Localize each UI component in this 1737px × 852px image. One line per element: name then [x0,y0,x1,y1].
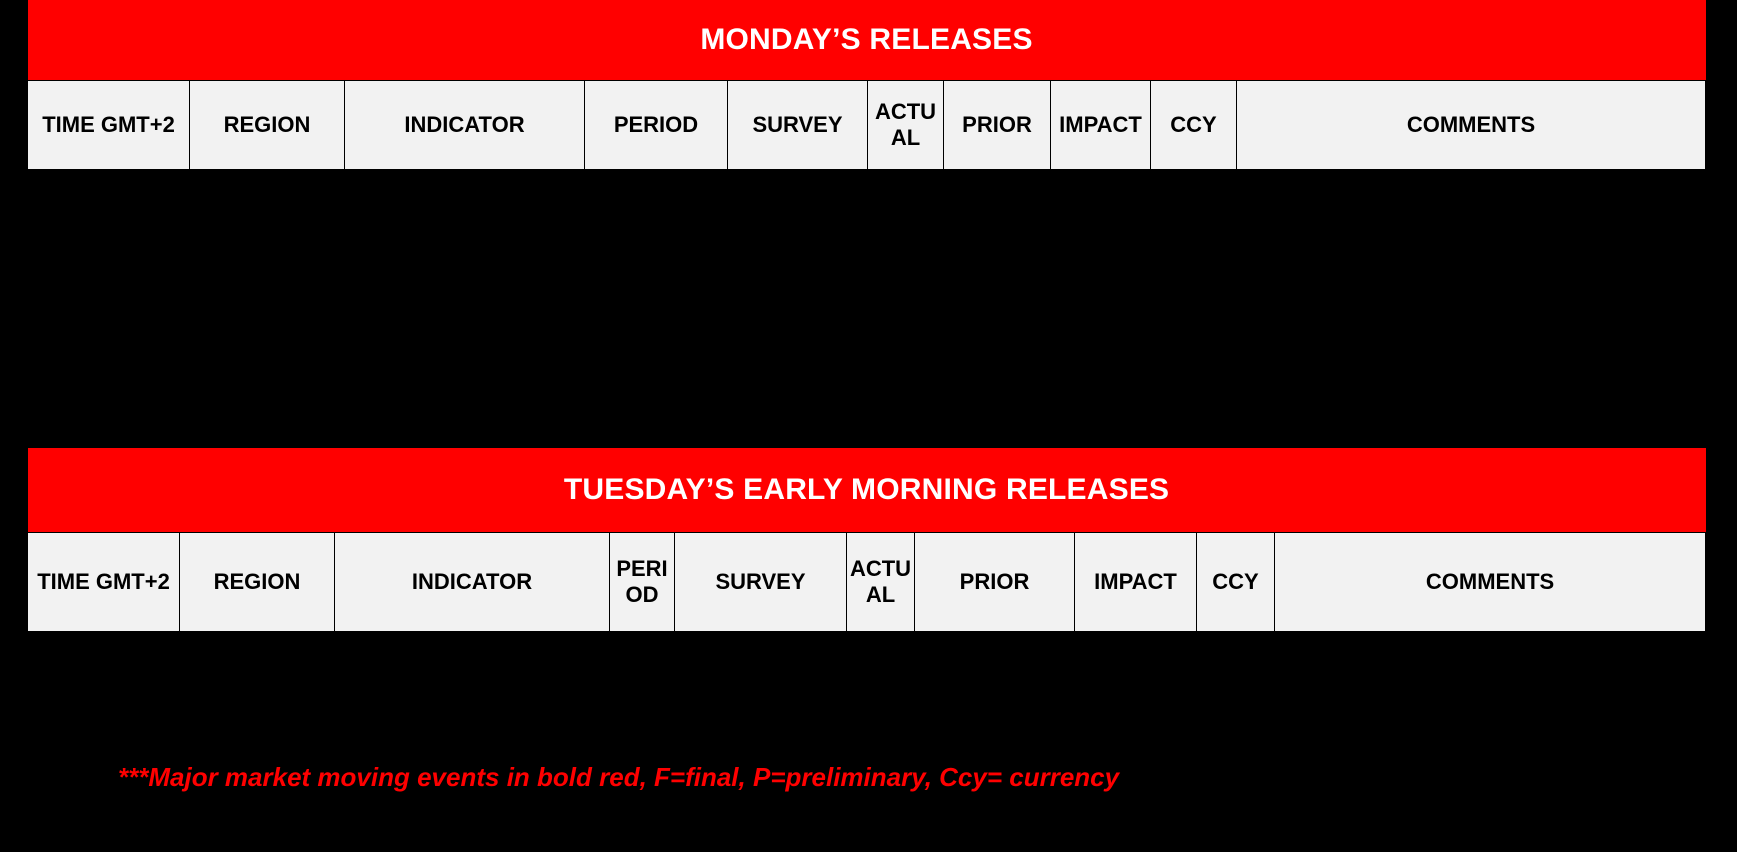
monday-col-impact[interactable]: IMPACT [1051,81,1151,170]
tuesday-col-comments[interactable]: COMMENTS [1275,533,1706,632]
monday-banner-row: MONDAY’S RELEASES [28,0,1706,81]
tuesday-col-impact[interactable]: IMPACT [1075,533,1197,632]
monday-header-row: TIME GMT+2 REGION INDICATOR PERIOD SURVE… [28,81,1706,170]
tuesday-col-prior[interactable]: PRIOR [915,533,1075,632]
monday-col-time[interactable]: TIME GMT+2 [28,81,190,170]
monday-col-actual[interactable]: ACTUAL [868,81,944,170]
monday-col-indicator[interactable]: INDICATOR [345,81,585,170]
tuesday-col-region[interactable]: REGION [180,533,335,632]
monday-col-period[interactable]: PERIOD [585,81,728,170]
monday-col-ccy[interactable]: CCY [1151,81,1237,170]
tuesday-header-row: TIME GMT+2 REGION INDICATOR PERIOD SURVE… [28,533,1706,632]
tuesday-col-ccy[interactable]: CCY [1197,533,1275,632]
tuesday-col-time[interactable]: TIME GMT+2 [28,533,180,632]
monday-col-comments[interactable]: COMMENTS [1237,81,1706,170]
tuesday-banner-row: TUESDAY’S EARLY MORNING RELEASES [28,448,1706,533]
tuesday-banner-title: TUESDAY’S EARLY MORNING RELEASES [28,473,1706,507]
monday-col-survey[interactable]: SURVEY [728,81,868,170]
tuesday-banner-cell: TUESDAY’S EARLY MORNING RELEASES [28,448,1706,533]
monday-banner-cell: MONDAY’S RELEASES [28,0,1706,81]
legend-footnote: ***Major market moving events in bold re… [118,762,1119,793]
monday-col-prior[interactable]: PRIOR [944,81,1051,170]
tuesday-col-survey[interactable]: SURVEY [675,533,847,632]
economic-calendar-page: MONDAY’S RELEASES TIME GMT+2 REGION INDI… [0,0,1737,852]
tuesday-col-indicator[interactable]: INDICATOR [335,533,610,632]
tuesday-col-period[interactable]: PERIOD [610,533,675,632]
monday-releases-table: MONDAY’S RELEASES TIME GMT+2 REGION INDI… [27,0,1706,170]
monday-col-region[interactable]: REGION [190,81,345,170]
tuesday-releases-table: TUESDAY’S EARLY MORNING RELEASES TIME GM… [27,448,1706,632]
tuesday-col-actual[interactable]: ACTUAL [847,533,915,632]
monday-banner-title: MONDAY’S RELEASES [28,23,1706,57]
